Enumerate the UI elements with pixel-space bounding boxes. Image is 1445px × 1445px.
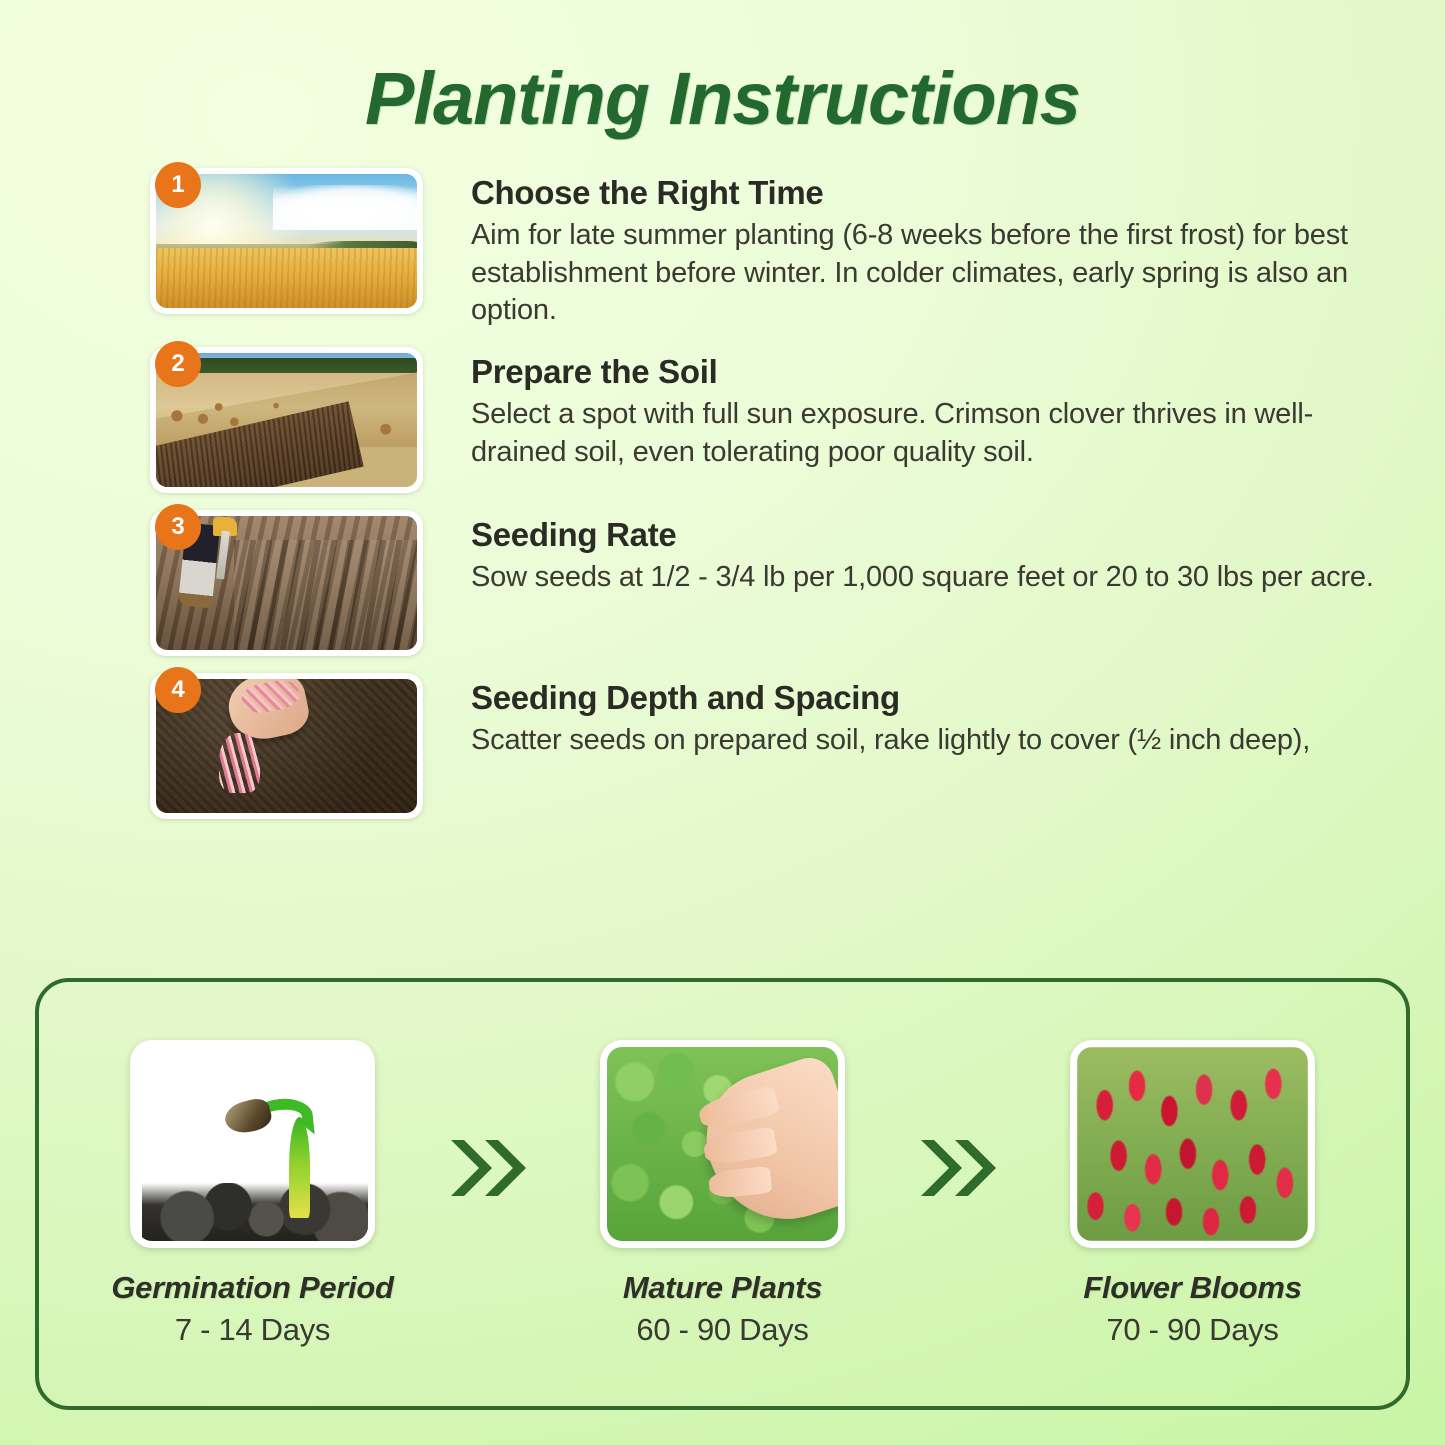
timeline-thumbnail-card xyxy=(130,1040,375,1248)
double-chevron-right-icon xyxy=(445,1132,531,1204)
timeline-stage-value: 70 - 90 Days xyxy=(1106,1312,1278,1348)
step-item: 4 Seeding Depth and Spacing Scatter seed… xyxy=(150,673,1405,819)
growth-timeline-panel: Germination Period 7 - 14 Days Mature Pl… xyxy=(35,978,1410,1410)
timeline-stage-label: Germination Period xyxy=(111,1270,393,1306)
sprouting-seedling-photo xyxy=(137,1047,368,1241)
step-body: Scatter seeds on prepared soil, rake lig… xyxy=(471,722,1405,760)
page-title: Planting Instructions xyxy=(0,0,1445,136)
step-item: 3 Seeding Rate Sow seeds at 1/2 - 3/4 lb… xyxy=(150,510,1405,656)
step-item: 2 Prepare the Soil Select a spot with fu… xyxy=(150,347,1405,493)
step-thumbnail-wrapper: 2 xyxy=(150,347,435,493)
step-thumbnail-wrapper: 1 xyxy=(150,168,435,314)
steps-list: 1 Choose the Right Time Aim for late sum… xyxy=(0,168,1445,819)
hand-touching-clover-leaves-photo xyxy=(607,1047,838,1241)
step-text: Seeding Depth and Spacing Scatter seeds … xyxy=(471,673,1405,760)
timeline-thumbnail-card xyxy=(1070,1040,1315,1248)
timeline-stage: Mature Plants 60 - 90 Days xyxy=(575,1040,870,1348)
timeline-stage: Germination Period 7 - 14 Days xyxy=(105,1040,400,1348)
timeline-stage-value: 60 - 90 Days xyxy=(636,1312,808,1348)
step-thumbnail-wrapper: 4 xyxy=(150,673,435,819)
timeline-stage-label: Flower Blooms xyxy=(1083,1270,1301,1306)
double-chevron-right-icon xyxy=(915,1132,1001,1204)
step-number-badge: 4 xyxy=(155,667,201,713)
step-number-badge: 1 xyxy=(155,162,201,208)
step-item: 1 Choose the Right Time Aim for late sum… xyxy=(150,168,1405,330)
step-title: Prepare the Soil xyxy=(471,353,1405,391)
step-thumbnail-wrapper: 3 xyxy=(150,510,435,656)
step-title: Choose the Right Time xyxy=(471,174,1405,212)
crimson-clover-blooms-photo xyxy=(1077,1047,1308,1241)
step-title: Seeding Rate xyxy=(471,516,1405,554)
timeline-stage-label: Mature Plants xyxy=(623,1270,822,1306)
step-number-badge: 2 xyxy=(155,341,201,387)
step-body: Sow seeds at 1/2 - 3/4 lb per 1,000 squa… xyxy=(471,559,1405,597)
step-text: Prepare the Soil Select a spot with full… xyxy=(471,347,1405,471)
step-text: Choose the Right Time Aim for late summe… xyxy=(471,168,1405,330)
step-text: Seeding Rate Sow seeds at 1/2 - 3/4 lb p… xyxy=(471,510,1405,597)
timeline-stage-value: 7 - 14 Days xyxy=(175,1312,330,1348)
step-body: Select a spot with full sun exposure. Cr… xyxy=(471,396,1405,471)
step-number-badge: 3 xyxy=(155,504,201,550)
timeline-thumbnail-card xyxy=(600,1040,845,1248)
timeline-stage: Flower Blooms 70 - 90 Days xyxy=(1045,1040,1340,1348)
step-title: Seeding Depth and Spacing xyxy=(471,679,1405,717)
step-body: Aim for late summer planting (6-8 weeks … xyxy=(471,217,1405,330)
